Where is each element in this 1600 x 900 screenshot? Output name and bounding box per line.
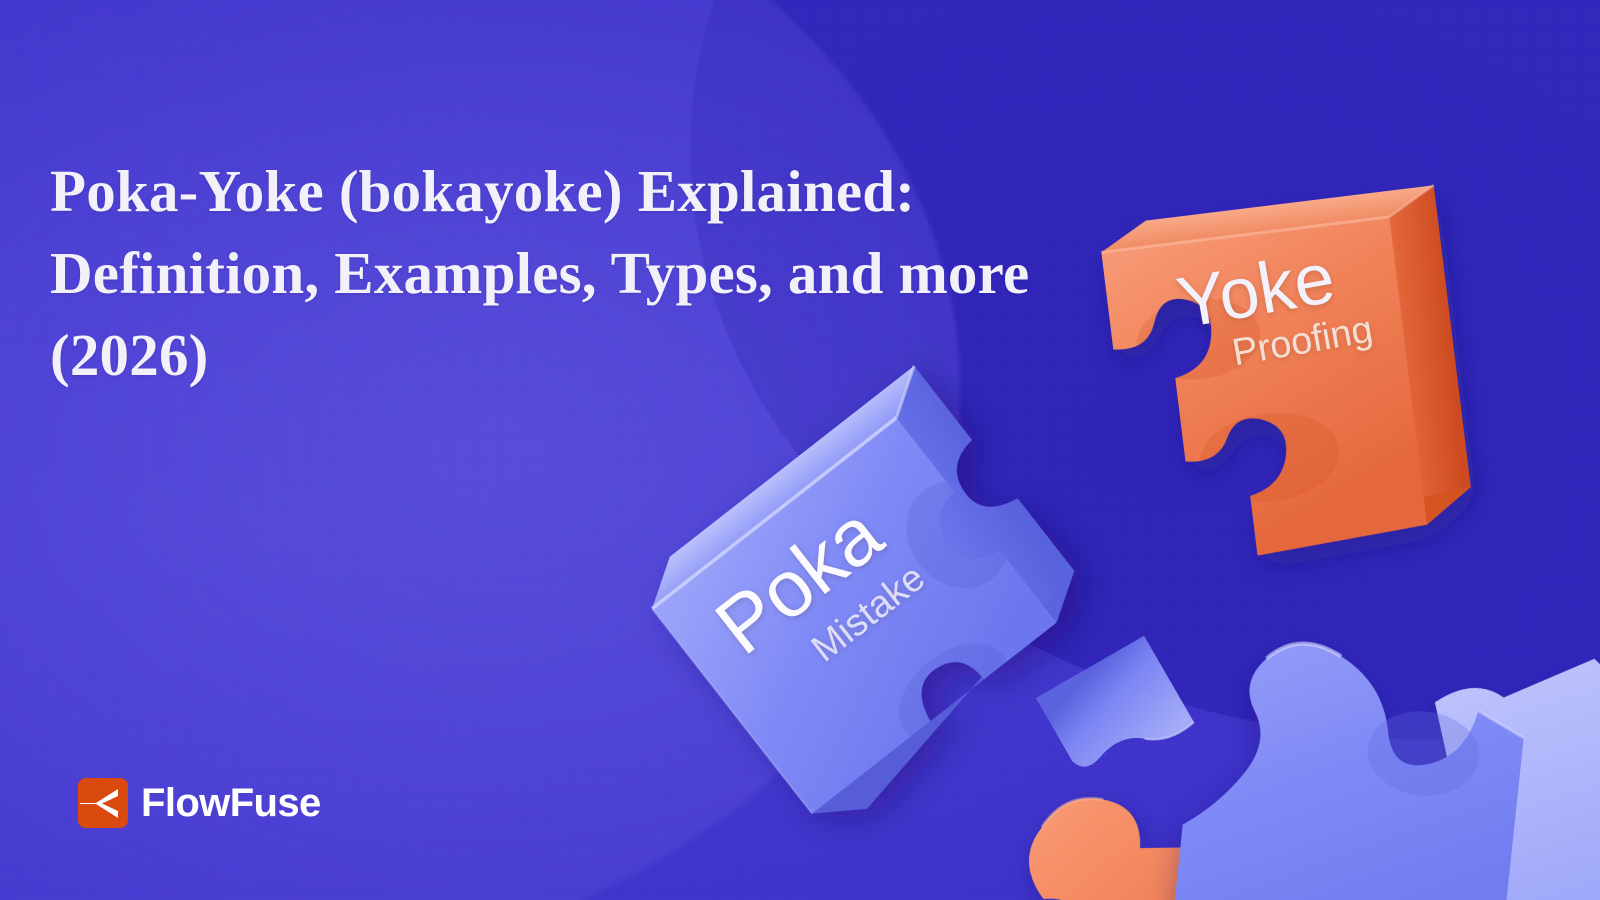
- yoke-piece-body: [1098, 185, 1476, 570]
- hero-banner: Yoke Proofing: [0, 0, 1600, 900]
- flowfuse-wordmark: FlowFuse: [141, 783, 321, 823]
- blue-puzzle-piece-cropped: [1170, 612, 1600, 900]
- flowfuse-fork-mark-icon: [78, 778, 128, 828]
- orange-puzzle-piece-yoke: Yoke Proofing: [1085, 153, 1531, 599]
- flowfuse-logo[interactable]: FlowFuse: [78, 778, 321, 828]
- page-title: Poka-Yoke (bokayoke) Explained: Definiti…: [50, 150, 1110, 396]
